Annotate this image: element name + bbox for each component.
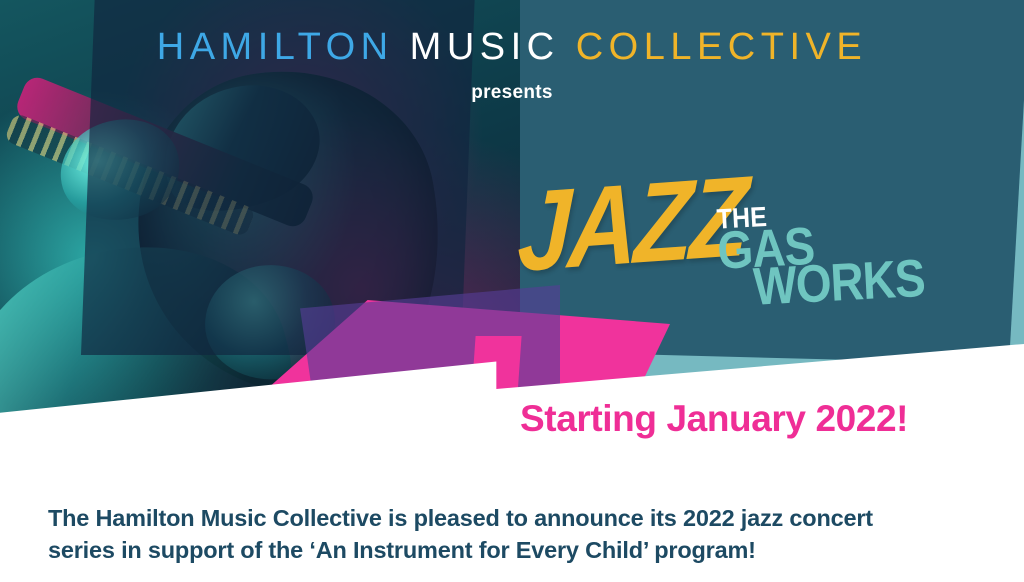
logo-works-word: WORKS	[752, 251, 926, 313]
promotional-poster: HAMILTON MUSIC COLLECTIVE presents JAZZ …	[0, 0, 1024, 582]
presents-label: presents	[0, 82, 1024, 104]
jazz-gas-works-logo: JAZZ THE GAS WORKS	[520, 176, 920, 316]
wordmark-hamilton: HAMILTON	[157, 26, 394, 68]
organization-wordmark: HAMILTON MUSIC COLLECTIVE	[0, 28, 1024, 68]
wordmark-music: MUSIC	[410, 26, 560, 68]
announcement-caption: The Hamilton Music Collective is pleased…	[48, 503, 988, 567]
starting-date-headline: Starting January 2022!	[520, 398, 908, 440]
logo-jazz-word: JAZZ	[516, 160, 747, 290]
wordmark-collective: COLLECTIVE	[576, 26, 868, 68]
caption-line-2: series in support of the ‘An Instrument …	[48, 535, 988, 567]
caption-line-1: The Hamilton Music Collective is pleased…	[48, 503, 988, 535]
